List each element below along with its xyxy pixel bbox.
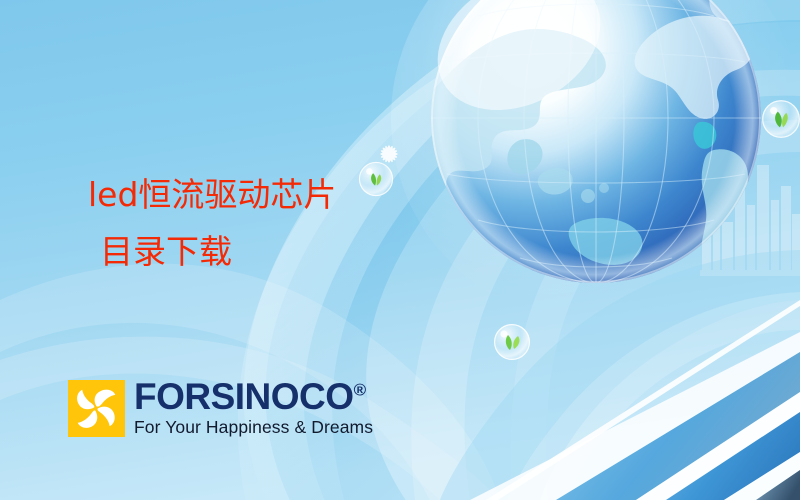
four-petal-pinwheel-icon	[68, 380, 125, 437]
brand-word: FORSINOCO	[134, 376, 354, 417]
bubble-with-leaves-icon	[760, 98, 800, 140]
headline-text: led恒流驱动芯片 目录下载	[88, 166, 418, 280]
company-logo: FORSINOCO® For Your Happiness & Dreams	[68, 380, 373, 439]
brand-name: FORSINOCO®	[134, 378, 373, 416]
banner-canvas: led恒流驱动芯片 目录下载 FORSINOCO® For Your Happi…	[0, 0, 800, 500]
headline-line-1: led恒流驱动芯片	[88, 175, 336, 214]
registered-mark: ®	[354, 381, 367, 400]
brand-tagline: For Your Happiness & Dreams	[134, 417, 373, 437]
logo-text-block: FORSINOCO® For Your Happiness & Dreams	[134, 378, 373, 437]
logo-mark	[68, 380, 125, 437]
bubble-with-leaves-icon	[492, 322, 532, 362]
headline-line-2: 目录下载	[88, 223, 418, 280]
